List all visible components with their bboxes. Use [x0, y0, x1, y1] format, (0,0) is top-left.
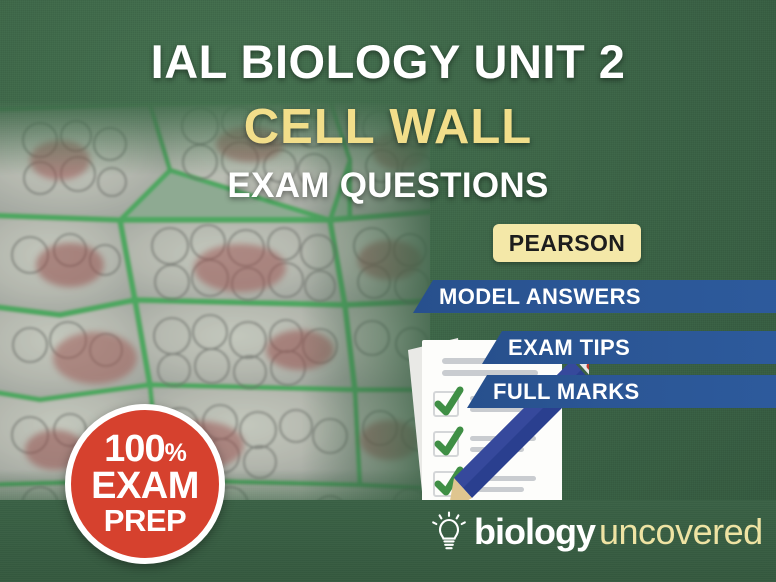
page-title-line3: EXAM QUESTIONS: [0, 166, 776, 206]
feature-banner-model-answers: MODEL ANSWERS: [413, 280, 776, 313]
page-title-line1: IAL BIOLOGY UNIT 2: [0, 34, 776, 89]
stamp-line-exam: EXAM: [91, 467, 199, 505]
exam-prep-stamp: 100% EXAM PREP: [65, 404, 225, 564]
stamp-line-prep: PREP: [104, 505, 186, 538]
thumbnail-canvas: IAL BIOLOGY UNIT 2 CELL WALL EXAM QUESTI…: [0, 0, 776, 582]
feature-banner-exam-tips: EXAM TIPS: [482, 331, 776, 364]
brand-logo: biology uncovered: [428, 506, 763, 558]
lightbulb-icon: [428, 509, 470, 555]
feature-banner-label: FULL MARKS: [467, 379, 640, 405]
logo-word-uncovered: uncovered: [599, 514, 763, 550]
exam-board-badge: PEARSON: [493, 224, 641, 262]
logo-word-biology: biology: [474, 514, 595, 550]
stamp-percent-number: 100: [104, 428, 164, 470]
feature-banner-label: EXAM TIPS: [482, 335, 630, 361]
feature-banner-label: MODEL ANSWERS: [413, 284, 641, 310]
page-title-line2: CELL WALL: [0, 99, 776, 155]
stamp-percent-symbol: %: [165, 439, 186, 467]
feature-banner-full-marks: FULL MARKS: [467, 375, 776, 408]
stamp-percent: 100%: [104, 431, 186, 467]
